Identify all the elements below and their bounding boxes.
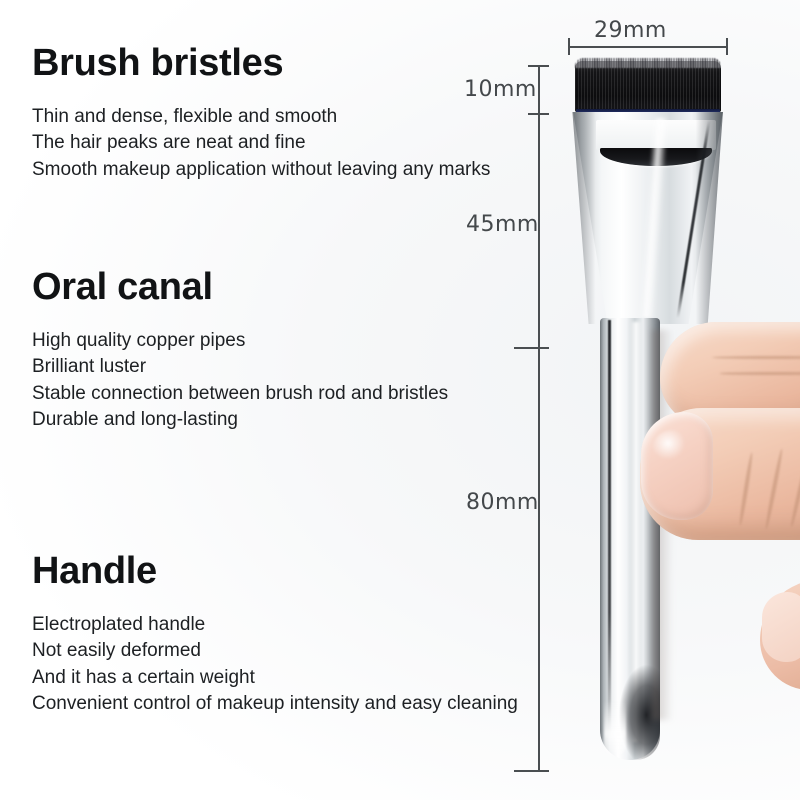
product-photo-makeup-brush (0, 0, 800, 800)
fingernail-gloss (652, 430, 692, 468)
product-infographic: Brush bristles Thin and dense, flexible … (0, 0, 800, 800)
handle-reflection-line (608, 320, 611, 738)
handle-tip-gloss (604, 700, 626, 756)
lower-fingernail (762, 592, 800, 662)
brush-bristles-head (575, 61, 721, 112)
ferrule-left-shading (570, 112, 600, 324)
finger-crease (720, 372, 800, 375)
